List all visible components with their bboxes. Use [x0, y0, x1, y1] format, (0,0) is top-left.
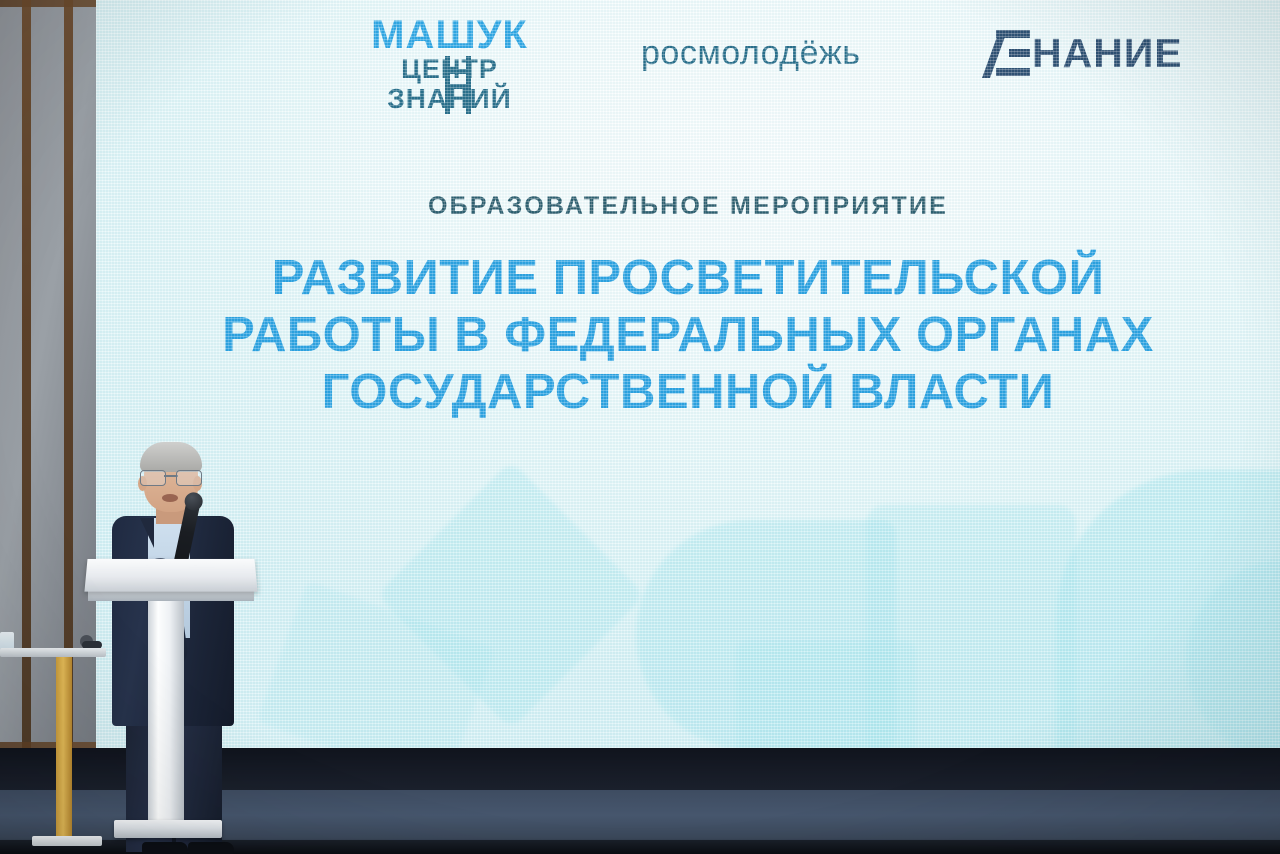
speaker-hair [140, 442, 202, 472]
podium-column [148, 600, 184, 824]
slide-kicker: ОБРАЗОВАТЕЛЬНОЕ МЕРОПРИЯТИЕ [96, 192, 1280, 221]
stage-photo: МАШУК ЦЕНТР ЗНАНИЙ росмолодёжь НАНИЕ [0, 0, 1280, 854]
podium-top [84, 559, 257, 592]
slide-title-line-3: ГОСУДАРСТВЕННОЙ ВЛАСТИ [96, 364, 1280, 421]
logo-znanie-text: НАНИЕ [1032, 30, 1183, 76]
logo-bar: МАШУК ЦЕНТР ЗНАНИЙ росмолодёжь НАНИЕ [96, 0, 1280, 120]
slide-title: РАЗВИТИЕ ПРОСВЕТИТЕЛЬСКОЙ РАБОТЫ В ФЕДЕР… [96, 250, 1280, 421]
speaker-collar-left [140, 518, 154, 548]
slide-title-line-2: РАБОТЫ В ФЕДЕРАЛЬНЫХ ОРГАНАХ [96, 307, 1280, 364]
podium-base [114, 820, 222, 838]
znanie-z-glyph-icon [996, 30, 1030, 76]
logo-mashuk-stack: ЦЕНТР ЗНАНИЙ [362, 54, 537, 116]
podium [86, 558, 256, 848]
logo-mashuk-centr-znaniy: МАШУК ЦЕНТР ЗНАНИЙ [362, 14, 537, 116]
logo-ladder-glyph-icon [445, 56, 471, 114]
eyeglasses-icon [140, 470, 202, 484]
logo-znanie: НАНИЕ [996, 30, 1183, 76]
logo-rosmolodezh: росмолодёжь [641, 34, 860, 73]
speaker-mouth [162, 494, 178, 502]
accent-shape-6 [736, 640, 916, 752]
slide-title-line-1: РАЗВИТИЕ ПРОСВЕТИТЕЛЬСКОЙ [96, 250, 1280, 307]
logo-mashuk-word: МАШУК [362, 14, 537, 56]
side-table-leg [56, 657, 72, 839]
